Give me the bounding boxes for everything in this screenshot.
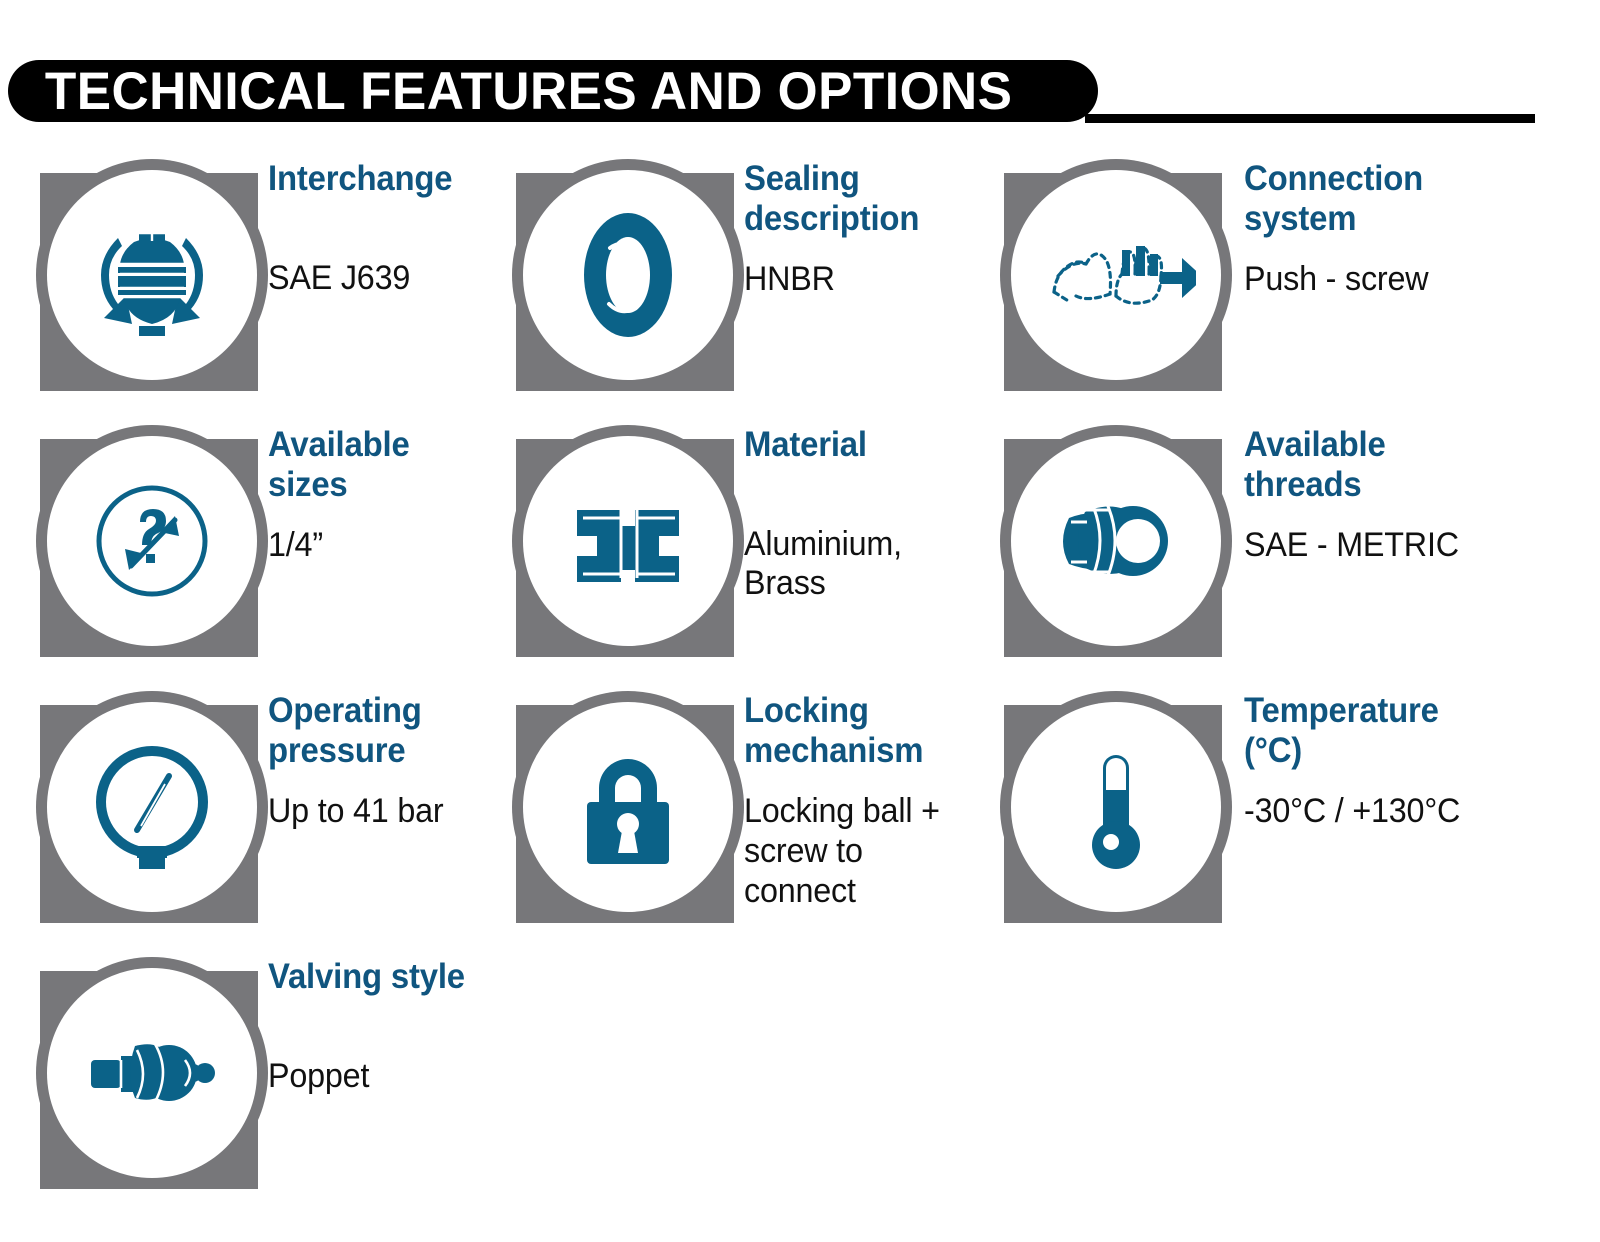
features-row: Valving style Poppet (0, 943, 1600, 1209)
feature-heading: Valving style (268, 957, 465, 997)
feature-icon-badge (36, 159, 258, 391)
threaded-fitting-icon (1011, 436, 1221, 646)
feature-text: Material Aluminium, Brass (744, 425, 910, 604)
feature-value: SAE J639 (268, 259, 454, 299)
feature-heading: Temperature (°C) (1244, 691, 1458, 770)
feature-temperature: Temperature (°C) -30°C / +130°C (1000, 677, 1560, 943)
feature-text: Locking mechanism Locking ball + screw t… (744, 691, 990, 911)
o-ring-seal-icon (523, 170, 733, 380)
feature-icon-badge (36, 957, 258, 1189)
feature-valving-style: Valving style Poppet (36, 943, 506, 1209)
feature-interchange: Interchange SAE J639 (36, 145, 506, 411)
feature-value: Aluminium, Brass (744, 525, 902, 605)
poppet-valve-icon (47, 968, 257, 1178)
header-pill: TECHNICAL FEATURES AND OPTIONS (8, 60, 1098, 122)
features-row: Available sizes 1/4” (0, 411, 1600, 677)
feature-icon-badge (1000, 425, 1222, 657)
feature-heading: Sealing description (744, 159, 919, 238)
technical-features-sheet: TECHNICAL FEATURES AND OPTIONS (0, 0, 1600, 1242)
feature-icon-badge (36, 691, 258, 923)
feature-value: Up to 41 bar (268, 792, 443, 832)
feature-heading: Material (744, 425, 900, 465)
features-row: Operating pressure Up to 41 bar (0, 677, 1600, 943)
feature-value: Poppet (268, 1057, 467, 1097)
feature-sealing-description: Sealing description HNBR (512, 145, 990, 411)
feature-text: Available sizes 1/4” (268, 425, 419, 566)
header-underline (1085, 114, 1535, 123)
feature-value: Push - screw (1244, 260, 1428, 300)
feature-available-sizes: Available sizes 1/4” (36, 411, 506, 677)
feature-text: Valving style Poppet (268, 957, 477, 1096)
feature-text: Sealing description HNBR (744, 159, 930, 300)
feature-heading: Locking mechanism (744, 691, 975, 770)
page-title: TECHNICAL FEATURES AND OPTIONS (8, 65, 1012, 118)
feature-locking-mechanism: Locking mechanism Locking ball + screw t… (512, 677, 990, 943)
features-grid: Interchange SAE J639 (0, 145, 1600, 1209)
feature-text: Operating pressure Up to 41 bar (268, 691, 453, 832)
feature-text: Connection system Push - screw (1244, 159, 1438, 300)
hand-push-arrow-icon (1011, 170, 1221, 380)
feature-heading: Interchange (268, 159, 452, 199)
header: TECHNICAL FEATURES AND OPTIONS (0, 30, 1600, 126)
feature-heading: Connection system (1244, 159, 1426, 238)
flanged-body-material-icon (523, 436, 733, 646)
feature-icon-badge (36, 425, 258, 657)
pressure-gauge-icon (47, 702, 257, 912)
feature-operating-pressure: Operating pressure Up to 41 bar (36, 677, 506, 943)
feature-value: HNBR (744, 260, 921, 300)
feature-heading: Available threads (1244, 425, 1457, 504)
feature-icon-badge (1000, 159, 1222, 391)
feature-icon-badge (1000, 691, 1222, 923)
feature-heading: Available sizes (268, 425, 410, 504)
feature-available-threads: Available threads SAE - METRIC (1000, 411, 1560, 677)
feature-material: Material Aluminium, Brass (512, 411, 990, 677)
feature-icon-badge (512, 691, 734, 923)
thermometer-icon (1011, 702, 1221, 912)
feature-value: 1/4” (268, 526, 411, 566)
features-row: Interchange SAE J639 (0, 145, 1600, 411)
feature-value: Locking ball + screw to connect (744, 792, 978, 911)
padlock-icon (523, 702, 733, 912)
feature-text: Available threads SAE - METRIC (1244, 425, 1470, 566)
feature-value: SAE - METRIC (1244, 526, 1459, 566)
feature-connection-system: Connection system Push - screw (1000, 145, 1560, 411)
feature-heading: Operating pressure (268, 691, 442, 770)
question-mark-size-arrow-icon (47, 436, 257, 646)
feature-icon-badge (512, 425, 734, 657)
interchange-rotating-coupling-icon (47, 170, 257, 380)
feature-icon-badge (512, 159, 734, 391)
feature-text: Temperature (°C) -30°C / +130°C (1244, 691, 1472, 832)
feature-text: Interchange SAE J639 (268, 159, 464, 298)
feature-value: -30°C / +130°C (1244, 792, 1460, 832)
